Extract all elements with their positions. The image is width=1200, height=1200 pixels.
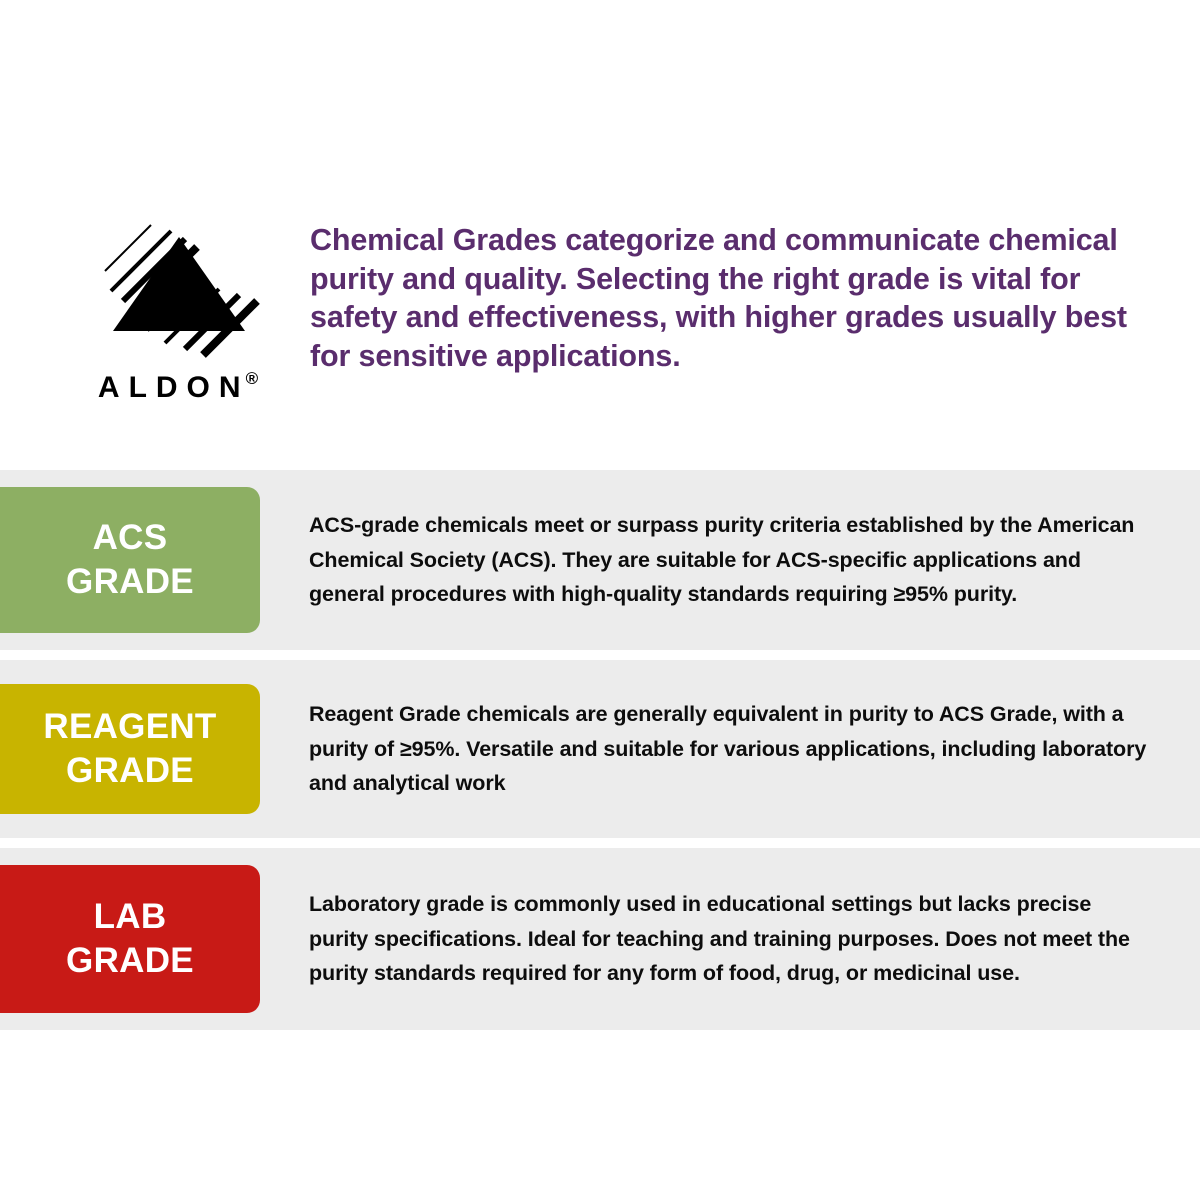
grade-row-acs: ACS GRADE ACS-grade chemicals meet or su… — [0, 470, 1200, 650]
brand-wordmark: ALDON® — [92, 371, 262, 405]
grade-description-acs: ACS-grade chemicals meet or surpass puri… — [309, 508, 1152, 612]
grade-badge-lab-line2: GRADE — [66, 939, 194, 983]
brand-wordmark-text: ALDON — [98, 371, 250, 404]
grade-row-lab: LAB GRADE Laboratory grade is commonly u… — [0, 848, 1200, 1030]
page-headline: Chemical Grades categorize and communica… — [310, 205, 1150, 375]
grade-description-lab: Laboratory grade is commonly used in edu… — [309, 887, 1152, 991]
grade-badge-lab-line1: LAB — [94, 895, 167, 939]
grade-badge-acs-line2: GRADE — [66, 560, 194, 604]
header: ALDON® Chemical Grades categorize and co… — [0, 205, 1200, 440]
grade-badge-reagent: REAGENT GRADE — [0, 684, 260, 814]
grade-badge-reagent-line1: REAGENT — [43, 705, 216, 749]
registered-trademark-icon: ® — [246, 369, 259, 388]
grade-badge-lab: LAB GRADE — [0, 865, 260, 1013]
aldon-triangle-logo-icon — [93, 209, 261, 369]
grade-badge-acs: ACS GRADE — [0, 487, 260, 633]
grade-badge-acs-line1: ACS — [93, 516, 168, 560]
grade-badge-reagent-line2: GRADE — [66, 749, 194, 793]
grade-description-reagent: Reagent Grade chemicals are generally eq… — [309, 697, 1152, 801]
brand-logo: ALDON® — [52, 205, 302, 405]
grade-row-reagent: REAGENT GRADE Reagent Grade chemicals ar… — [0, 660, 1200, 838]
grade-list: ACS GRADE ACS-grade chemicals meet or su… — [0, 470, 1200, 1040]
